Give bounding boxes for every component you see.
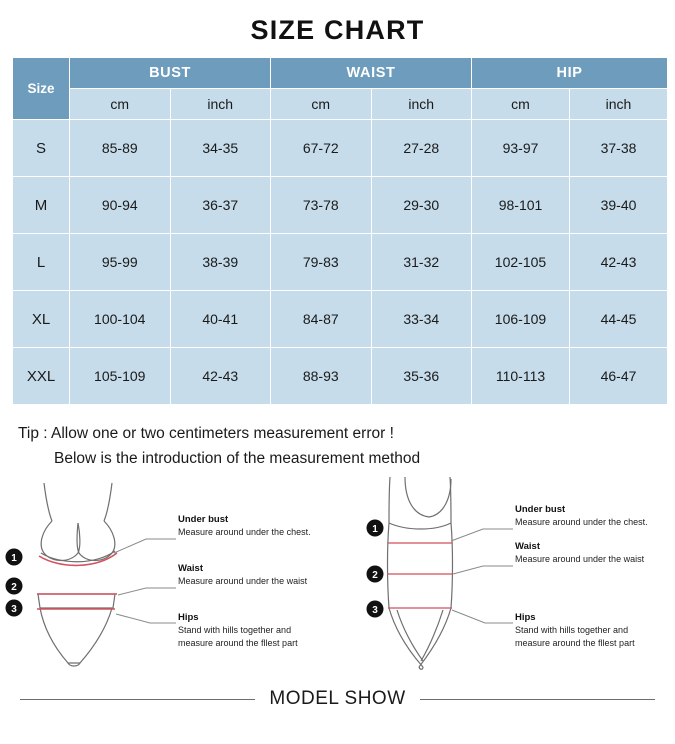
cell-size: M [13,177,70,234]
cell-hip-cm: 98-101 [472,177,570,234]
cell-bust-cm: 85-89 [70,120,171,177]
size-chart-table: Size BUST WAIST HIP cm inch cm inch cm i… [12,57,668,405]
label-waist: Waist Measure around under the waist [178,562,343,588]
cell-bust-in: 36-37 [170,177,271,234]
label-under-bust-title: Under bust [515,503,675,516]
cell-size: XL [13,291,70,348]
cell-size: S [13,120,70,177]
table-row: L 95-99 38-39 79-83 31-32 102-105 42-43 [13,234,668,291]
table-body: S 85-89 34-35 67-72 27-28 93-97 37-38 M … [13,120,668,405]
label-under-bust-title: Under bust [178,513,343,526]
cell-hip-cm: 106-109 [472,291,570,348]
unit-header-waist-cm: cm [271,89,372,120]
cell-hip-cm: 110-113 [472,348,570,405]
marker-3: 3 [367,601,384,618]
marker-1: 1 [6,549,23,566]
footer-rule-right [420,699,655,700]
svg-text:3: 3 [372,605,378,616]
cell-waist-cm: 79-83 [271,234,372,291]
svg-text:1: 1 [11,553,17,564]
table-row: XL 100-104 40-41 84-87 33-34 106-109 44-… [13,291,668,348]
cell-bust-in: 40-41 [170,291,271,348]
leader-line-waist [453,566,513,574]
cell-waist-in: 31-32 [371,234,472,291]
cell-hip-in: 46-47 [570,348,668,405]
svg-text:2: 2 [11,582,17,593]
leader-line-hips [116,614,176,623]
measure-line-under-bust [39,553,117,565]
cell-waist-in: 27-28 [371,120,472,177]
cell-hip-cm: 102-105 [472,234,570,291]
svg-text:3: 3 [11,604,17,615]
cell-waist-cm: 67-72 [271,120,372,177]
table-row: S 85-89 34-35 67-72 27-28 93-97 37-38 [13,120,668,177]
cell-bust-cm: 95-99 [70,234,171,291]
leader-line-under-bust [114,539,176,553]
cell-hip-in: 42-43 [570,234,668,291]
bra-strap-right [104,483,112,521]
label-hips-desc-line-2: measure around the fllest part [178,637,343,650]
bikini-diagram-panel: 1 2 3 Under bust Measure around under th… [0,477,337,672]
unit-header-bust-cm: cm [70,89,171,120]
label-under-bust: Under bust Measure around under the ches… [515,503,675,529]
size-chart-table-wrapper: Size BUST WAIST HIP cm inch cm inch cm i… [12,57,663,405]
measurement-tip: Tip : Allow one or two centimeters measu… [18,421,675,471]
cell-bust-in: 42-43 [170,348,271,405]
marker-3: 3 [6,600,23,617]
svg-text:2: 2 [372,570,378,581]
table-header-unit-row: cm inch cm inch cm inch [13,89,668,120]
cell-bust-cm: 90-94 [70,177,171,234]
label-waist-title: Waist [515,540,675,553]
label-under-bust: Under bust Measure around under the ches… [178,513,343,539]
cell-hip-cm: 93-97 [472,120,570,177]
column-header-waist: WAIST [271,58,472,89]
unit-header-bust-inch: inch [170,89,271,120]
label-under-bust-desc: Measure around under the chest. [515,516,675,529]
cell-waist-in: 33-34 [371,291,472,348]
cell-size: L [13,234,70,291]
cell-bust-cm: 100-104 [70,291,171,348]
label-hips: Hips Stand with hills together and measu… [515,611,675,649]
label-hips-desc-line-1: Stand with hills together and [178,624,343,637]
cell-waist-cm: 88-93 [271,348,372,405]
bra-strap-left [44,483,52,521]
cell-bust-in: 38-39 [170,234,271,291]
onepiece-diagram-panel: 1 2 3 Under bust Measure around under th… [337,477,674,672]
marker-2: 2 [6,578,23,595]
table-header: Size BUST WAIST HIP cm inch cm inch cm i… [13,58,668,120]
measurement-diagrams: 1 2 3 Under bust Measure around under th… [0,477,675,672]
table-row: M 90-94 36-37 73-78 29-30 98-101 39-40 [13,177,668,234]
label-hips-title: Hips [515,611,675,624]
marker-2: 2 [367,566,384,583]
cell-hip-in: 44-45 [570,291,668,348]
label-hips-desc-line-2: measure around the fllest part [515,637,675,650]
leader-line-under-bust [451,529,513,541]
table-header-group-row: Size BUST WAIST HIP [13,58,668,89]
cell-bust-in: 34-35 [170,120,271,177]
cell-hip-in: 39-40 [570,177,668,234]
footer-title: MODEL SHOW [269,688,405,710]
label-waist: Waist Measure around under the waist [515,540,675,566]
label-waist-desc: Measure around under the waist [178,575,343,588]
leader-line-hips [452,610,513,623]
table-row: XXL 105-109 42-43 88-93 35-36 110-113 46… [13,348,668,405]
unit-header-waist-inch: inch [371,89,472,120]
cell-waist-cm: 73-78 [271,177,372,234]
footer-rule-left [20,699,255,700]
label-waist-desc: Measure around under the waist [515,553,675,566]
model-show-footer: MODEL SHOW [0,688,675,710]
svg-text:1: 1 [372,524,378,535]
label-waist-title: Waist [178,562,343,575]
column-header-bust: BUST [70,58,271,89]
label-hips: Hips Stand with hills together and measu… [178,611,343,649]
unit-header-hip-inch: inch [570,89,668,120]
marker-1: 1 [367,520,384,537]
label-hips-title: Hips [178,611,343,624]
label-hips-desc-line-1: Stand with hills together and [515,624,675,637]
label-under-bust-desc: Measure around under the chest. [178,526,343,539]
cell-hip-in: 37-38 [570,120,668,177]
cell-waist-in: 29-30 [371,177,472,234]
tip-line-1: Tip : Allow one or two centimeters measu… [18,421,675,446]
cell-bust-cm: 105-109 [70,348,171,405]
cell-size: XXL [13,348,70,405]
tip-line-2: Below is the introduction of the measure… [18,446,675,471]
cell-waist-cm: 84-87 [271,291,372,348]
cell-waist-in: 35-36 [371,348,472,405]
unit-header-hip-cm: cm [472,89,570,120]
column-header-size: Size [13,58,70,120]
page-title: SIZE CHART [0,0,675,49]
leader-line-waist [118,588,176,595]
strap-left [389,477,390,523]
column-header-hip: HIP [472,58,668,89]
